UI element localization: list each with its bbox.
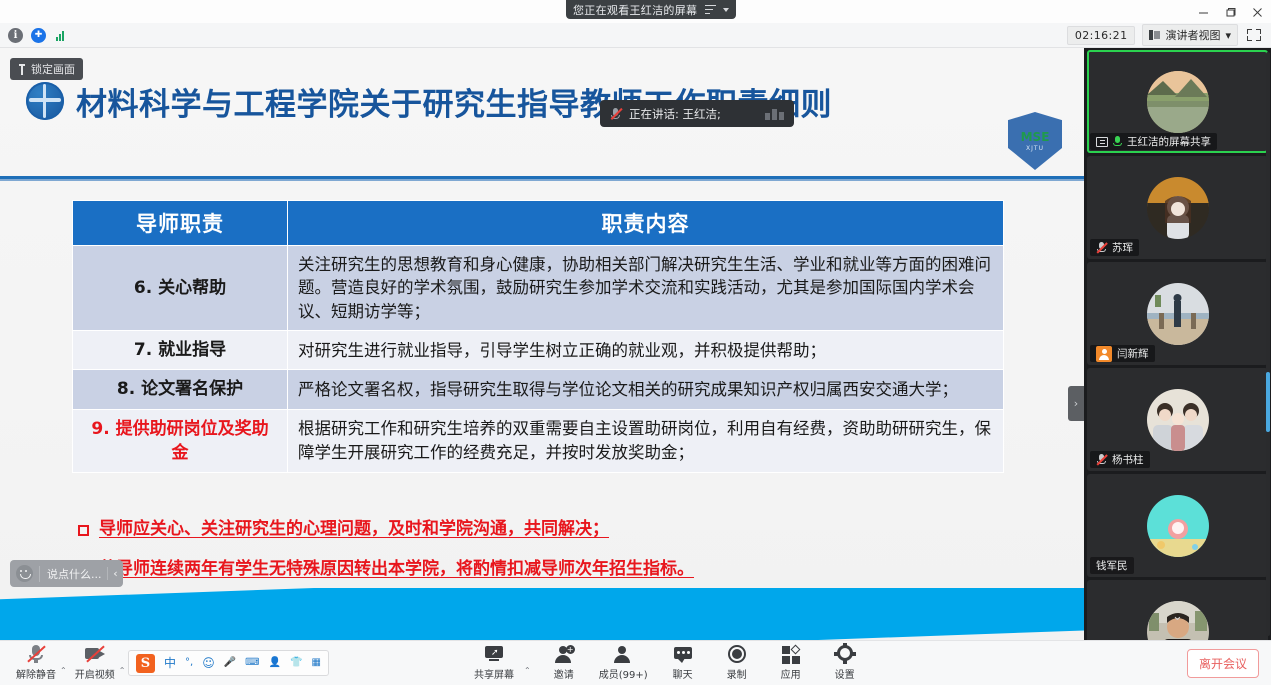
video-options-caret[interactable]: ⌃: [119, 666, 126, 675]
fullscreen-icon[interactable]: [1245, 27, 1263, 43]
active-speaker-banner: 正在讲话: 王红洁;: [600, 100, 794, 127]
quick-chat-bar[interactable]: 说点什么... ‹: [10, 560, 123, 587]
quick-chat-input[interactable]: 说点什么...: [39, 566, 107, 582]
row-content: 根据研究工作和研究生培养的双重需要自主设置助研岗位，利用自有经费，资助助研研究生…: [288, 409, 1004, 472]
ime-skin-icon[interactable]: 👕: [290, 658, 302, 668]
avatar: [1147, 71, 1209, 133]
ime-account-icon[interactable]: 👤: [269, 658, 281, 668]
ime-toolbar[interactable]: S 中 °, ☺ 🎤 ⌨ 👤 👕 ▦: [128, 650, 329, 676]
slide-divider: [0, 176, 1084, 181]
apps-icon: [780, 645, 802, 664]
row-content: 严格论文署名权，指导研究生取得与学位论文相关的研究成果知识产权归属西安交通大学；: [288, 370, 1004, 409]
participant-name-chip: 钱军民: [1090, 557, 1134, 574]
shared-screen-stage: 材料科学与工程学院关于研究生指导教师工作职责细则 MSE XJTU 导师职责 职…: [0, 48, 1084, 640]
avatar: [1147, 283, 1209, 345]
mic-on-icon: [1113, 136, 1122, 148]
video-button-label: 开启视频: [75, 666, 115, 681]
minimize-button[interactable]: [1190, 2, 1217, 22]
lock-screen-button[interactable]: 锁定画面: [10, 58, 83, 80]
settings-button[interactable]: 设置: [822, 645, 868, 681]
info-icon[interactable]: i: [8, 28, 23, 43]
share-screen-icon: ➚: [483, 645, 505, 664]
maximize-button[interactable]: [1217, 2, 1244, 22]
participant-name-chip: 闫新辉: [1090, 345, 1155, 362]
host-icon: [1096, 346, 1112, 362]
participant-name: 杨书柱: [1112, 452, 1144, 467]
hamburger-icon[interactable]: [705, 5, 717, 15]
screen-share-toast: 您正在观看王红洁的屏幕: [566, 0, 736, 19]
record-button[interactable]: 录制: [714, 645, 760, 681]
speaker-view-icon: [1149, 30, 1160, 40]
chevron-right-icon[interactable]: ›: [1068, 386, 1084, 421]
table-row: 6. 关心帮助 关注研究生的思想教育和身心健康，协助相关部门解决研究生生活、学业…: [73, 246, 1004, 331]
avatar: [1147, 389, 1209, 451]
globe-icon: [26, 82, 64, 120]
mic-off-icon: [610, 107, 621, 121]
signal-strength-icon[interactable]: [54, 28, 69, 43]
row-category: 6. 关心帮助: [73, 246, 288, 331]
participant-name: 钱军民: [1096, 558, 1128, 573]
record-label: 录制: [727, 666, 747, 681]
meeting-meta-bar: i ✚ 02:16:21 演讲者视图 ▾: [0, 23, 1271, 48]
mic-off-icon: [1096, 242, 1107, 254]
participants-icon: [612, 645, 634, 664]
row-category: 9. 提供助研岗位及奖助金: [73, 409, 288, 472]
invite-button[interactable]: + 邀请: [541, 645, 587, 681]
window-controls: [1190, 2, 1271, 22]
smiley-icon[interactable]: [16, 565, 33, 582]
apps-button[interactable]: 应用: [768, 645, 814, 681]
participant-name-chip: 王红洁的屏幕共享: [1090, 133, 1217, 150]
participant-name: 王红洁的屏幕共享: [1127, 134, 1211, 149]
row-content: 关注研究生的思想教育和身心健康，协助相关部门解决研究生生活、学业和就业等方面的困…: [288, 246, 1004, 331]
avatar: [1147, 495, 1209, 557]
chat-button[interactable]: 聊天: [660, 645, 706, 681]
mse-logo-text: MSE: [1021, 131, 1050, 143]
mute-button-label: 解除静音: [16, 666, 56, 681]
close-button[interactable]: [1244, 2, 1271, 22]
ime-keyboard-icon[interactable]: ⌨: [245, 658, 259, 668]
participant-name: 闫新辉: [1117, 346, 1149, 361]
apps-label: 应用: [781, 666, 801, 681]
participant-filmstrip[interactable]: 王红洁的屏幕共享 苏珲: [1084, 48, 1271, 640]
toolbar-center-cluster: ➚ 共享屏幕 ⌃ + 邀请 成员(99+): [470, 645, 868, 681]
toast-label: 您正在观看王红洁的屏幕: [573, 2, 697, 18]
participant-tile[interactable]: 钱军民: [1087, 474, 1268, 577]
table-header-cat: 导师职责: [73, 201, 288, 246]
participant-tile[interactable]: 苏珲: [1087, 156, 1268, 259]
table-row: 9. 提供助研岗位及奖助金 根据研究工作和研究生培养的双重需要自主设置助研岗位，…: [73, 409, 1004, 472]
participant-tile[interactable]: 杨书柱: [1087, 368, 1268, 471]
record-icon: [726, 645, 748, 664]
share-screen-button[interactable]: ➚ 共享屏幕: [470, 645, 518, 681]
participant-tile[interactable]: 闫新辉: [1087, 262, 1268, 365]
view-mode-selector[interactable]: 演讲者视图 ▾: [1142, 24, 1238, 46]
duties-table: 导师职责 职责内容 6. 关心帮助 关注研究生的思想教育和身心健康，协助相关部门…: [72, 200, 1004, 473]
mic-off-icon: [1096, 454, 1107, 466]
note-item: 导师应关心、关注研究生的心理问题，及时和学院沟通，共同解决；: [78, 518, 1038, 540]
ime-emoji-icon[interactable]: ☺: [202, 657, 215, 669]
quick-chat-collapse[interactable]: ‹: [107, 567, 123, 580]
row-category: 8. 论文署名保护: [73, 370, 288, 409]
avatar: [1147, 177, 1209, 239]
filmstrip-scrollbar[interactable]: [1266, 52, 1270, 636]
chevron-down-icon: ▾: [1225, 29, 1231, 42]
slide-notes: 导师应关心、关注研究生的心理问题，及时和学院沟通，共同解决； 若导师连续两年有学…: [78, 518, 1038, 598]
toolbar-left-cluster: 解除静音 ⌃ 开启视频 ⌃: [0, 645, 127, 681]
chevron-down-icon[interactable]: [723, 8, 729, 12]
table-row: 7. 就业指导 对研究生进行就业指导，引导学生树立正确的就业观，并积极提供帮助；: [73, 331, 1004, 370]
shield-icon[interactable]: ✚: [31, 28, 46, 43]
audio-wave-icon: [765, 108, 784, 120]
table-header-content: 职责内容: [288, 201, 1004, 246]
settings-gear-icon: [834, 645, 856, 664]
ime-mode-icon[interactable]: 中: [164, 657, 176, 669]
share-icon: [1096, 137, 1108, 147]
view-mode-label: 演讲者视图: [1165, 27, 1220, 43]
settings-label: 设置: [835, 666, 855, 681]
sogou-logo-icon[interactable]: S: [136, 654, 155, 673]
slide-header: 材料科学与工程学院关于研究生指导教师工作职责细则: [0, 70, 1084, 132]
zoom-meeting-window: 您正在观看王红洁的屏幕 i ✚ 02:16:21 演讲者视图 ▾: [0, 0, 1271, 685]
table-header-row: 导师职责 职责内容: [73, 201, 1004, 246]
participant-name: 苏珲: [1112, 240, 1133, 255]
participants-label: 成员(99+): [599, 666, 648, 681]
mic-off-icon: [25, 645, 47, 664]
mse-logo-sub: XJTU: [1026, 145, 1044, 152]
ime-toolbox-icon[interactable]: ▦: [312, 658, 321, 668]
participant-name-chip: 苏珲: [1090, 239, 1139, 256]
toolbar-right-cluster: 离开会议: [1187, 649, 1259, 678]
note-text: 导师应关心、关注研究生的心理问题，及时和学院沟通，共同解决；: [99, 518, 609, 540]
chat-label: 聊天: [673, 666, 693, 681]
mute-button[interactable]: 解除静音: [12, 645, 60, 681]
video-button[interactable]: 开启视频: [71, 645, 119, 681]
mse-logo: MSE XJTU: [1008, 112, 1062, 172]
chat-icon: [672, 645, 694, 664]
ime-voice-icon[interactable]: 🎤: [224, 658, 236, 668]
participants-button[interactable]: 成员(99+): [595, 645, 652, 681]
row-content: 对研究生进行就业指导，引导学生树立正确的就业观，并积极提供帮助；: [288, 331, 1004, 370]
table-row: 8. 论文署名保护 严格论文署名权，指导研究生取得与学位论文相关的研究成果知识产…: [73, 370, 1004, 409]
share-screen-label: 共享屏幕: [474, 666, 514, 681]
presentation-slide: 材料科学与工程学院关于研究生指导教师工作职责细则 MSE XJTU 导师职责 职…: [0, 48, 1084, 640]
leave-meeting-button[interactable]: 离开会议: [1187, 649, 1259, 678]
ime-punct-icon[interactable]: °,: [185, 658, 193, 668]
participant-tile[interactable]: 王红洁的屏幕共享: [1087, 50, 1268, 153]
camera-off-icon: [84, 645, 106, 664]
active-speaker-label: 正在讲话: 王红洁;: [629, 106, 721, 122]
chevron-down-icon[interactable]: ⌄: [1172, 609, 1183, 624]
pin-icon: [18, 64, 26, 75]
slide-footer-decoration: [0, 588, 1084, 640]
note-text: 若导师连续两年有学生无特殊原因转出本学院，将酌情扣减导师次年招生指标。: [99, 558, 694, 580]
lock-screen-label: 锁定画面: [31, 61, 75, 77]
square-bullet-icon: [78, 525, 89, 536]
invite-icon: +: [553, 645, 575, 664]
share-options-caret[interactable]: ⌃: [524, 666, 531, 675]
mute-options-caret[interactable]: ⌃: [60, 666, 67, 675]
participant-name-chip: 杨书柱: [1090, 451, 1150, 468]
note-item: 若导师连续两年有学生无特殊原因转出本学院，将酌情扣减导师次年招生指标。: [78, 558, 1038, 580]
meeting-timer: 02:16:21: [1067, 26, 1136, 45]
row-category: 7. 就业指导: [73, 331, 288, 370]
invite-label: 邀请: [554, 666, 574, 681]
